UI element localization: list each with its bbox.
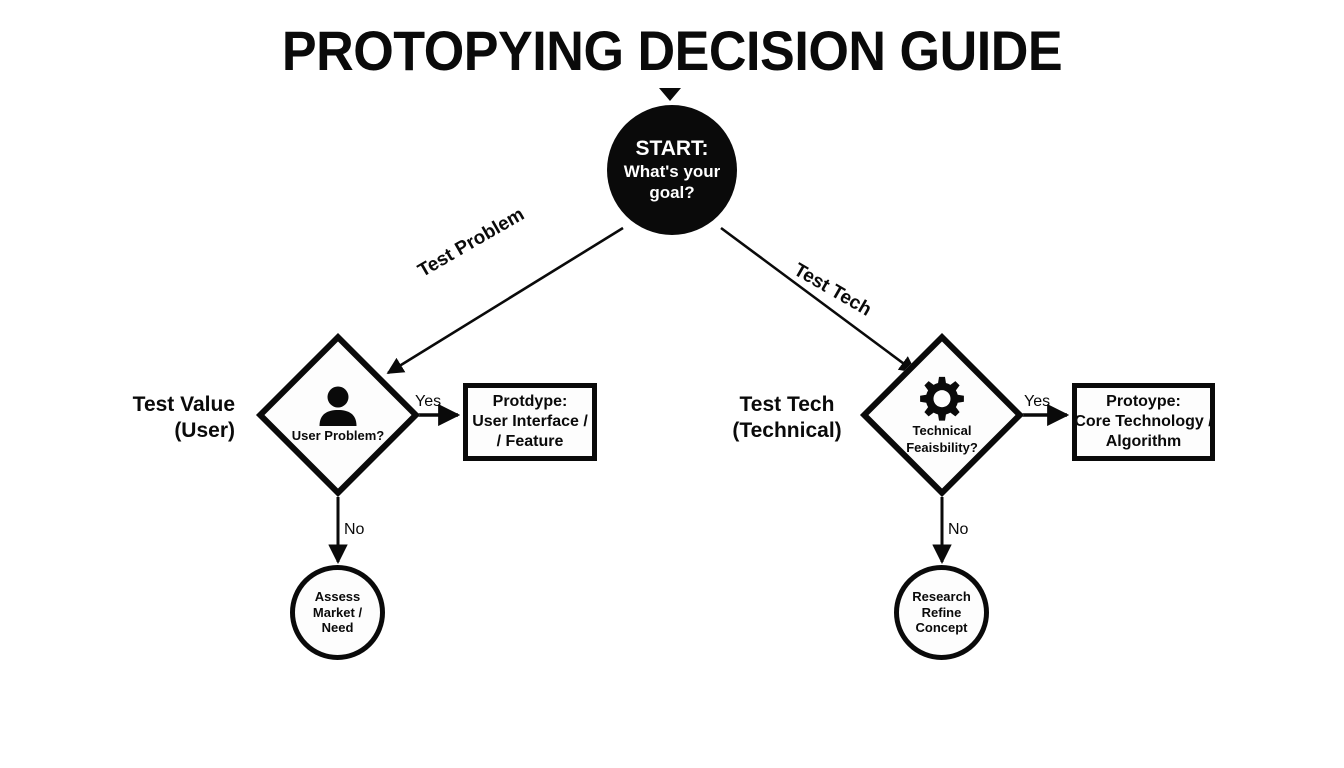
research-line-1: Research bbox=[912, 589, 971, 605]
assess-line-3: Need bbox=[322, 620, 354, 636]
swimlane-right-line-1: Test Tech bbox=[720, 392, 854, 418]
node-decision-user-problem[interactable]: User Problem? bbox=[260, 337, 416, 493]
research-line-2: Refine bbox=[922, 605, 962, 621]
assess-line-2: Market / bbox=[313, 605, 362, 621]
edge-start-to-user bbox=[388, 228, 623, 373]
swimlane-left-line-2: (User) bbox=[60, 418, 235, 444]
node-decision-technical-feasibility[interactable]: Technical Feaisbility? bbox=[864, 337, 1020, 493]
assess-line-1: Assess bbox=[315, 589, 361, 605]
decision-user-label: User Problem? bbox=[292, 429, 384, 444]
node-assess-market-need[interactable]: Assess Market / Need bbox=[290, 565, 385, 660]
edge-label-test-tech: Test Tech bbox=[790, 259, 875, 321]
diamond-content-user: User Problem? bbox=[260, 337, 416, 493]
start-line-1: START: bbox=[635, 136, 708, 162]
prototype-ui-line-2: User Interface / bbox=[472, 412, 588, 432]
node-research-refine-concept[interactable]: Research Refine Concept bbox=[894, 565, 989, 660]
edge-label-user-yes: Yes bbox=[415, 393, 441, 411]
swimlane-left-line-1: Test Value bbox=[60, 392, 235, 418]
edge-label-user-no: No bbox=[344, 521, 364, 539]
node-start[interactable]: START: What's your goal? bbox=[607, 105, 737, 235]
start-line-2: What's your bbox=[624, 162, 721, 183]
edge-label-test-problem: Test Problem bbox=[415, 204, 529, 283]
person-icon bbox=[316, 386, 360, 426]
swimlane-label-test-tech: Test Tech (Technical) bbox=[720, 392, 854, 443]
page-title: PROTOPYING DECISION GUIDE bbox=[47, 22, 1297, 81]
prototype-ui-line-1: Protdype: bbox=[493, 392, 568, 412]
node-prototype-core-technology[interactable]: Protoype: Core Technology / Algorithm bbox=[1072, 383, 1215, 461]
start-line-3: goal? bbox=[649, 183, 694, 204]
prototype-core-line-3: Algorithm bbox=[1106, 432, 1182, 452]
diamond-content-tech: Technical Feaisbility? bbox=[864, 337, 1020, 493]
research-line-3: Concept bbox=[916, 620, 968, 636]
prototype-ui-line-3: / Feature bbox=[497, 432, 564, 452]
node-prototype-user-interface[interactable]: Protdype: User Interface / / Feature bbox=[463, 383, 597, 461]
prototype-core-line-1: Protoype: bbox=[1106, 392, 1181, 412]
decision-tech-label-line-2: Feaisbility? bbox=[906, 441, 978, 456]
edge-label-tech-no: No bbox=[948, 521, 968, 539]
diagram-canvas: PROTOPYING DECISION GUIDE START: What's … bbox=[0, 0, 1344, 768]
gear-icon bbox=[919, 375, 965, 421]
swimlane-label-test-value: Test Value (User) bbox=[60, 392, 235, 443]
edge-label-tech-yes: Yes bbox=[1024, 393, 1050, 411]
title-to-start-arrowhead bbox=[659, 88, 681, 101]
prototype-core-line-2: Core Technology / bbox=[1074, 412, 1212, 432]
swimlane-right-line-2: (Technical) bbox=[720, 418, 854, 444]
decision-tech-label-line-1: Technical bbox=[912, 424, 971, 439]
